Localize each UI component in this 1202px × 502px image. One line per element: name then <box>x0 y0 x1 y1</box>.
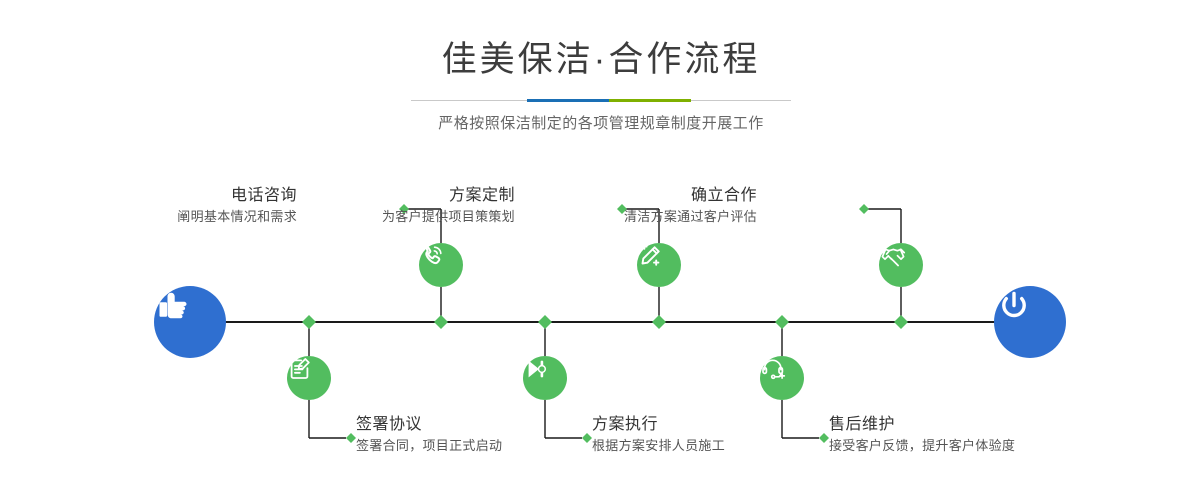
pointing-hand-icon <box>154 286 194 326</box>
process-flow: 电话咨询 阐明基本情况和需求 方案定制 为客户提供项目策策划 <box>0 150 1202 502</box>
step-desc-3: 为客户提供项目策策划 <box>382 207 515 227</box>
step-node-3[interactable] <box>637 243 681 287</box>
step-label-2: 签署协议 签署合同，项目正式启动 <box>356 414 502 456</box>
diamond-marker-step-2-label <box>346 433 356 443</box>
step-label-1: 电话咨询 阐明基本情况和需求 <box>177 185 297 227</box>
step-node-5[interactable] <box>879 243 923 287</box>
divider-segment-blue <box>527 99 609 102</box>
header: 佳美保洁·合作流程 严格按照保洁制定的各项管理规章制度开展工作 <box>0 0 1202 134</box>
step-title-2: 签署协议 <box>356 414 502 436</box>
step-title-1: 电话咨询 <box>177 185 297 207</box>
document-sign-icon <box>287 356 313 382</box>
diamond-marker-step-4 <box>538 315 552 329</box>
step-title-6: 售后维护 <box>829 414 1015 436</box>
page-title: 佳美保洁·合作流程 <box>0 40 1202 80</box>
step-label-4: 方案执行 根据方案安排人员施工 <box>592 414 725 456</box>
diamond-marker-step-5-label <box>859 204 869 214</box>
page-subtitle: 严格按照保洁制定的各项管理规章制度开展工作 <box>0 114 1202 134</box>
customer-service-add-icon <box>760 356 786 382</box>
step-label-6: 售后维护 接受客户反馈，提升客户体验度 <box>829 414 1015 456</box>
cooperation-process-infographic: 佳美保洁·合作流程 严格按照保洁制定的各项管理规章制度开展工作 <box>0 0 1202 502</box>
title-divider <box>411 99 791 102</box>
step-node-1[interactable] <box>419 243 463 287</box>
play-execute-icon <box>523 356 549 382</box>
step-desc-1: 阐明基本情况和需求 <box>177 207 297 227</box>
phone-call-icon <box>419 243 445 269</box>
step-node-2[interactable] <box>287 356 331 400</box>
step-desc-2: 签署合同，项目正式启动 <box>356 436 502 456</box>
flow-end-node[interactable] <box>994 286 1066 358</box>
diamond-marker-step-6-label <box>819 433 829 443</box>
step-title-4: 方案执行 <box>592 414 725 436</box>
diamond-marker-step-6 <box>775 315 789 329</box>
diamond-marker-step-4-label <box>582 433 592 443</box>
step-label-5: 确立合作 清洁方案通过客户评估 <box>624 185 757 227</box>
step-title-5: 确立合作 <box>624 185 757 207</box>
diamond-marker-step-1 <box>434 315 448 329</box>
step-node-4[interactable] <box>523 356 567 400</box>
step-label-3: 方案定制 为客户提供项目策策划 <box>382 185 515 227</box>
flow-start-node[interactable] <box>154 286 226 358</box>
divider-segment-green <box>609 99 691 102</box>
step-desc-4: 根据方案安排人员施工 <box>592 436 725 456</box>
power-icon <box>994 286 1034 326</box>
diamond-marker-step-3 <box>652 315 666 329</box>
step-title-3: 方案定制 <box>382 185 515 207</box>
step-desc-6: 接受客户反馈，提升客户体验度 <box>829 436 1015 456</box>
step-desc-5: 清洁方案通过客户评估 <box>624 207 757 227</box>
diamond-marker-step-2 <box>302 315 316 329</box>
handshake-icon <box>879 243 907 271</box>
diamond-marker-step-5 <box>894 315 908 329</box>
pencil-plan-icon <box>637 243 663 269</box>
step-node-6[interactable] <box>760 356 804 400</box>
